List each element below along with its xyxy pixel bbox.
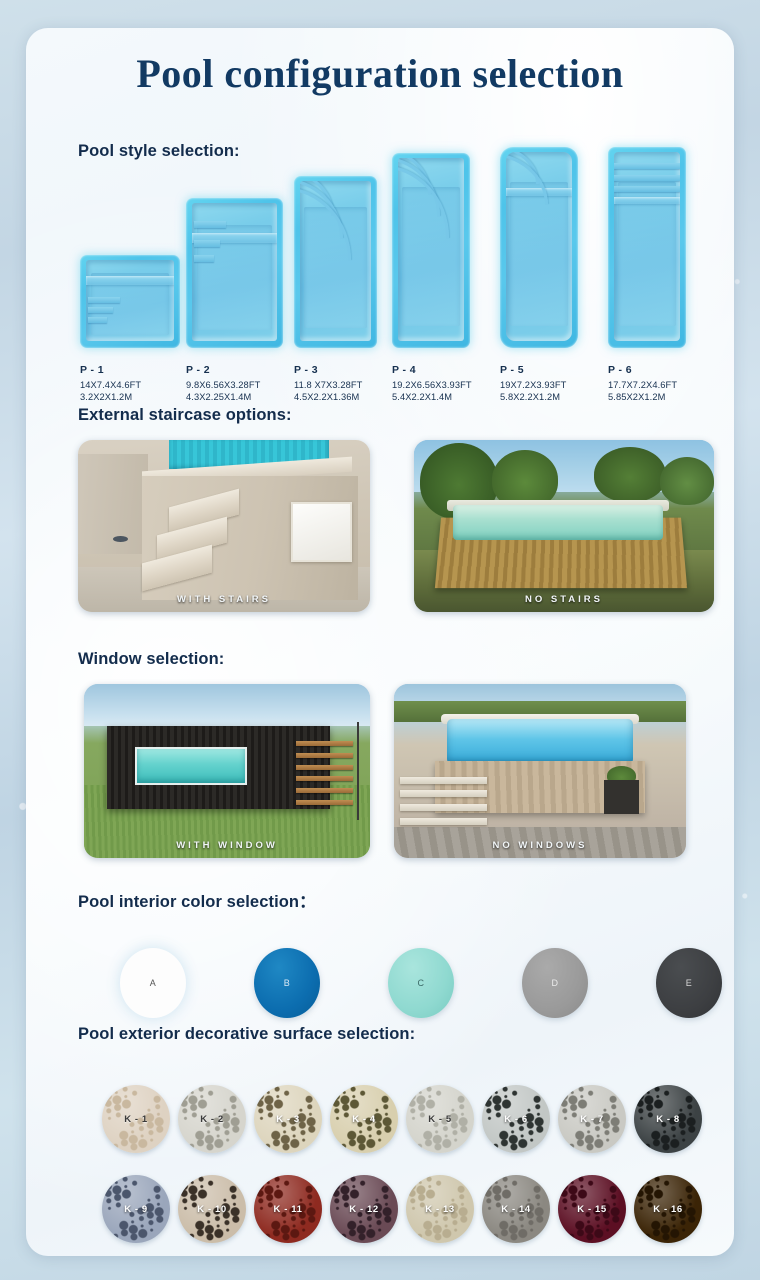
exterior-surface-swatch-9[interactable]: K - 9	[102, 1175, 170, 1243]
interior-color-code: B	[284, 978, 291, 988]
pool-step	[88, 297, 120, 303]
pool-dim-feet: 19.2X6.56X3.93FT	[392, 379, 472, 392]
pool-water	[453, 505, 663, 539]
exterior-surface-code: K - 5	[428, 1114, 452, 1125]
pool-step	[88, 307, 113, 313]
pool-code: P - 5	[500, 364, 566, 376]
pool-basin-p5	[506, 152, 572, 341]
pool-dim-meters: 5.8X2.2X1.2M	[500, 391, 566, 404]
exterior-surface-code: K - 15	[577, 1204, 606, 1215]
pool-ledge	[614, 197, 680, 204]
pool-shape-p6	[608, 147, 686, 348]
pool-step	[194, 255, 214, 262]
pool-code: P - 6	[608, 364, 677, 376]
planter-box	[604, 780, 639, 815]
heading-external-staircase: External staircase options:	[78, 406, 292, 425]
stair-tread	[400, 804, 488, 811]
interior-color-swatch-d[interactable]: D	[522, 948, 588, 1018]
caption-with-window: WITH WINDOW	[84, 840, 370, 851]
pool-style-item-p3[interactable]: P - 3 11.8 X7X3.28FT 4.5X2.2X1.36M	[294, 176, 377, 348]
tree	[660, 457, 714, 505]
pool-style-label-p3: P - 3 11.8 X7X3.28FT 4.5X2.2X1.36M	[294, 364, 362, 404]
pool-dim-feet: 11.8 X7X3.28FT	[294, 379, 362, 392]
pool-code: P - 2	[186, 364, 260, 376]
pool-basin-p2	[192, 203, 277, 341]
pool-style-label-p5: P - 5 19X7.2X3.93FT 5.8X2.2X1.2M	[500, 364, 566, 404]
exterior-surface-code: K - 14	[501, 1204, 530, 1215]
pool-code: P - 3	[294, 364, 362, 376]
stair-tread	[296, 753, 353, 758]
exterior-surface-code: K - 12	[349, 1204, 378, 1215]
exterior-surface-code: K - 2	[200, 1114, 224, 1125]
staircase-option-with-stairs[interactable]: WITH STAIRS	[78, 440, 370, 612]
pool-style-label-p1: P - 1 14X7.4X4.6FT 3.2X2X1.2M	[80, 364, 141, 404]
exterior-surface-swatch-4[interactable]: K - 4	[330, 1085, 398, 1153]
exterior-surface-code: K - 1	[124, 1114, 148, 1125]
pool-style-list: P - 1 14X7.4X4.6FT 3.2X2X1.2M P - 2	[72, 138, 712, 348]
external-stairs	[400, 771, 488, 841]
pool-dim-meters: 4.3X2.25X1.4M	[186, 391, 260, 404]
exterior-surface-swatch-7[interactable]: K - 7	[558, 1085, 626, 1153]
access-door	[291, 502, 352, 562]
handrail	[357, 722, 359, 819]
stair-tread	[296, 741, 353, 746]
tree	[594, 447, 666, 502]
stair-tread	[400, 818, 488, 825]
pool-style-item-p1[interactable]: P - 1 14X7.4X4.6FT 3.2X2X1.2M	[80, 255, 180, 348]
stair-tread	[296, 776, 353, 781]
content-card: Pool configuration selection Pool style …	[26, 28, 734, 1256]
exterior-surface-list: K - 1K - 2K - 3K - 4K - 5K - 6K - 7K - 8…	[70, 1085, 730, 1256]
stair-tread	[296, 788, 353, 793]
caption-no-windows: NO WINDOWS	[394, 840, 686, 851]
pool-dim-meters: 5.85X2X1.2M	[608, 391, 677, 404]
pool-ledge	[86, 276, 174, 285]
window-option-no-windows[interactable]: NO WINDOWS	[394, 684, 686, 858]
pool-shape-p1	[80, 255, 180, 348]
photo-no-windows	[394, 684, 686, 858]
pool-style-label-p2: P - 2 9.8X6.56X3.28FT 4.3X2.25X1.4M	[186, 364, 260, 404]
external-stairs	[296, 736, 353, 820]
stair-tread	[296, 765, 353, 770]
pool-shape-p4	[392, 153, 470, 348]
pool-basin-p6	[614, 152, 680, 341]
exterior-surface-swatch-1[interactable]: K - 1	[102, 1085, 170, 1153]
exterior-surface-code: K - 6	[504, 1114, 528, 1125]
pool-code: P - 1	[80, 364, 141, 376]
pool-style-item-p4[interactable]: P - 4 19.2X6.56X3.93FT 5.4X2.2X1.4M	[392, 153, 470, 348]
exterior-surface-swatch-2[interactable]: K - 2	[178, 1085, 246, 1153]
exterior-surface-code: K - 10	[197, 1204, 226, 1215]
exterior-surface-code: K - 8	[656, 1114, 680, 1125]
pool-basin-p3	[300, 181, 371, 341]
interior-color-swatch-c[interactable]: C	[388, 948, 454, 1018]
exterior-surface-swatch-15[interactable]: K - 15	[558, 1175, 626, 1243]
sky	[84, 684, 370, 726]
stair-tread	[400, 777, 488, 784]
exterior-surface-swatch-6[interactable]: K - 6	[482, 1085, 550, 1153]
stair-tread	[400, 790, 488, 797]
pool-step	[614, 175, 680, 181]
interior-color-swatch-b[interactable]: B	[254, 948, 320, 1018]
interior-color-code: C	[418, 978, 425, 988]
photo-with-window	[84, 684, 370, 858]
window-option-with-window[interactable]: WITH WINDOW	[84, 684, 370, 858]
photo-with-stairs	[78, 440, 370, 612]
exterior-surface-swatch-11[interactable]: K - 11	[254, 1175, 322, 1243]
pool-basin-p4	[398, 158, 464, 341]
pool-window	[135, 747, 247, 785]
caption-with-stairs: WITH STAIRS	[78, 594, 370, 605]
pool-water	[447, 719, 634, 764]
heading-interior-color: Pool interior color selection：	[78, 888, 316, 912]
interior-color-code: A	[150, 978, 157, 988]
exterior-surface-code: K - 11	[274, 1204, 303, 1215]
pool-style-item-p2[interactable]: P - 2 9.8X6.56X3.28FT 4.3X2.25X1.4M	[186, 198, 283, 348]
pool-dim-meters: 5.4X2.2X1.4M	[392, 391, 472, 404]
poster-page: Pool configuration selection Pool style …	[0, 0, 760, 1280]
pool-dim-feet: 17.7X7.2X4.6FT	[608, 379, 677, 392]
pool-style-item-p6[interactable]: P - 6 17.7X7.2X4.6FT 5.85X2X1.2M	[608, 147, 686, 348]
exterior-surface-code: K - 4	[352, 1114, 376, 1125]
pool-basin-p1	[86, 260, 174, 341]
exterior-surface-swatch-14[interactable]: K - 14	[482, 1175, 550, 1243]
pool-step	[614, 163, 680, 169]
heading-window-selection: Window selection:	[78, 650, 224, 669]
page-title: Pool configuration selection	[26, 50, 734, 97]
pool-dim-feet: 14X7.4X4.6FT	[80, 379, 141, 392]
exterior-surface-code: K - 9	[124, 1204, 148, 1215]
exterior-surface-swatch-16[interactable]: K - 16	[634, 1175, 702, 1243]
photo-no-stairs	[414, 440, 714, 612]
pool-style-item-p5[interactable]: P - 5 19X7.2X3.93FT 5.8X2.2X1.2M	[500, 147, 578, 348]
pool-style-label-p6: P - 6 17.7X7.2X4.6FT 5.85X2X1.2M	[608, 364, 677, 404]
pool-dim-feet: 9.8X6.56X3.28FT	[186, 379, 260, 392]
exterior-surface-code: K - 3	[276, 1114, 300, 1125]
pool-dim-feet: 19X7.2X3.93FT	[500, 379, 566, 392]
pool-dim-meters: 4.5X2.2X1.36M	[294, 391, 362, 404]
exterior-surface-code: K - 7	[580, 1114, 604, 1125]
interior-color-code: E	[686, 978, 693, 988]
exterior-surface-swatch-8[interactable]: K - 8	[634, 1085, 702, 1153]
exterior-surface-swatch-5[interactable]: K - 5	[406, 1085, 474, 1153]
exterior-surface-swatch-10[interactable]: K - 10	[178, 1175, 246, 1243]
pool-shape-p3	[294, 176, 377, 348]
exterior-surface-code: K - 16	[653, 1204, 682, 1215]
exterior-surface-swatch-3[interactable]: K - 3	[254, 1085, 322, 1153]
pool-step	[614, 186, 680, 192]
exterior-surface-swatch-13[interactable]: K - 13	[406, 1175, 474, 1243]
pool-step	[194, 240, 220, 247]
caption-no-stairs: NO STAIRS	[414, 594, 714, 605]
interior-color-code: D	[552, 978, 559, 988]
interior-color-swatch-e[interactable]: E	[656, 948, 722, 1018]
pool-step	[194, 221, 226, 228]
interior-color-swatch-a[interactable]: A	[120, 948, 186, 1018]
pool-style-label-p4: P - 4 19.2X6.56X3.93FT 5.4X2.2X1.4M	[392, 364, 472, 404]
pool-shape-p5	[500, 147, 578, 348]
staircase-option-no-stairs[interactable]: NO STAIRS	[414, 440, 714, 612]
pool-code: P - 4	[392, 364, 472, 376]
stair-tread	[296, 800, 353, 805]
heading-exterior-surface: Pool exterior decorative surface selecti…	[78, 1025, 415, 1044]
pool-shape-p2	[186, 198, 283, 348]
exterior-surface-code: K - 13	[425, 1204, 454, 1215]
pool-step	[88, 317, 107, 323]
exterior-surface-swatch-12[interactable]: K - 12	[330, 1175, 398, 1243]
pool-dim-meters: 3.2X2X1.2M	[80, 391, 141, 404]
